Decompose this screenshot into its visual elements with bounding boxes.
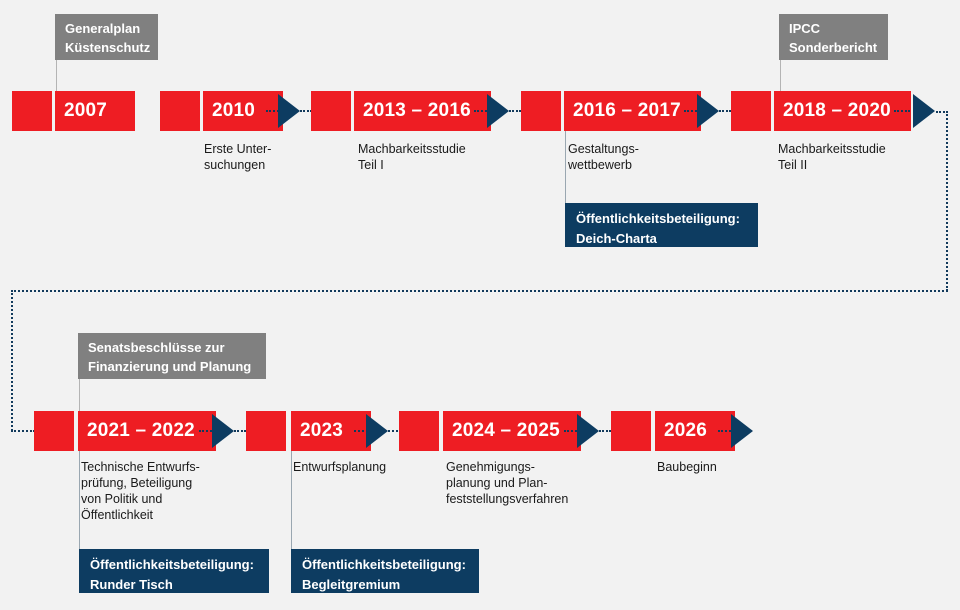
marker-square-2024 bbox=[399, 411, 439, 451]
leader-line-generalplan bbox=[56, 60, 57, 92]
arrow-2013-to-2016 bbox=[487, 94, 509, 128]
arrow-2023-to-2024 bbox=[366, 414, 388, 448]
year-chip-2021-2022[interactable]: 2021 – 2022 bbox=[78, 411, 216, 451]
leader-line-ipcc bbox=[780, 60, 781, 92]
year-chip-2016-2017[interactable]: 2016 – 2017 bbox=[564, 91, 701, 131]
marker-square-2023 bbox=[246, 411, 286, 451]
marker-square-2010 bbox=[160, 91, 200, 131]
marker-square-2026 bbox=[611, 411, 651, 451]
dotted-connector-2018-end bbox=[894, 110, 910, 112]
year-chip-2018-2020[interactable]: 2018 – 2020 bbox=[774, 91, 911, 131]
leader-line-begleitgremium bbox=[291, 451, 292, 549]
caption-2021-2022: Technische Entwurfs- prüfung, Beteiligun… bbox=[81, 459, 251, 523]
arrow-2016-to-2018 bbox=[697, 94, 719, 128]
caption-2016-2017: Gestaltungs- wettbewerb bbox=[568, 141, 718, 173]
wrap-connector-left-vertical bbox=[11, 290, 13, 431]
year-chip-2007[interactable]: 2007 bbox=[55, 91, 135, 131]
arrow-row-end bbox=[913, 94, 935, 128]
wrap-connector-right-vertical bbox=[946, 111, 948, 291]
marker-square-2013 bbox=[311, 91, 351, 131]
leader-line-deich-charta bbox=[565, 131, 566, 204]
arrow-timeline-end bbox=[731, 414, 753, 448]
timeline-infographic: Generalplan Küstenschutz 2007 2010 Erste… bbox=[0, 0, 960, 610]
dotted-connector-2023-2024b bbox=[388, 430, 398, 432]
caption-2010: Erste Unter- suchungen bbox=[204, 141, 324, 173]
callout-ipcc-sonderbericht: IPCC Sonderbericht bbox=[779, 14, 888, 60]
leader-line-senatsbeschluesse bbox=[79, 379, 80, 411]
marker-square-2007 bbox=[12, 91, 52, 131]
caption-2018-2020: Machbarkeitsstudie Teil II bbox=[778, 141, 938, 173]
arrow-2021-to-2023 bbox=[212, 414, 234, 448]
callout-senatsbeschluesse: Senatsbeschlüsse zur Finanzierung und Pl… bbox=[78, 333, 266, 379]
participation-box-runder-tisch: Öffentlichkeitsbeteiligung: Runder Tisch bbox=[79, 549, 269, 593]
year-chip-2013-2016[interactable]: 2013 – 2016 bbox=[354, 91, 491, 131]
caption-2026: Baubeginn bbox=[657, 459, 777, 475]
participation-box-deich-charta: Öffentlichkeitsbeteiligung: Deich-Charta bbox=[565, 203, 758, 247]
wrap-connector-horizontal bbox=[11, 290, 948, 292]
marker-square-2021 bbox=[34, 411, 74, 451]
callout-generalplan-kuestenschutz: Generalplan Küstenschutz bbox=[55, 14, 158, 60]
dotted-connector-2024-2026b bbox=[599, 430, 611, 432]
arrow-2010-to-2013 bbox=[278, 94, 300, 128]
dotted-connector-2013-2016b bbox=[509, 110, 521, 112]
participation-box-begleitgremium: Öffentlichkeitsbeteiligung: Begleitgremi… bbox=[291, 549, 479, 593]
marker-square-2016 bbox=[521, 91, 561, 131]
marker-square-2018 bbox=[731, 91, 771, 131]
arrow-2024-to-2026 bbox=[577, 414, 599, 448]
wrap-connector-bottom-stub bbox=[11, 430, 35, 432]
dotted-connector-2016-2018b bbox=[719, 110, 731, 112]
leader-line-runder-tisch bbox=[79, 451, 80, 549]
caption-2024-2025: Genehmigungs- planung und Plan- feststel… bbox=[446, 459, 626, 507]
dotted-connector-2021-2023b bbox=[234, 430, 246, 432]
caption-2013-2016: Machbarkeitsstudie Teil I bbox=[358, 141, 508, 173]
caption-2023: Entwurfsplanung bbox=[293, 459, 453, 475]
year-chip-2024-2025[interactable]: 2024 – 2025 bbox=[443, 411, 581, 451]
